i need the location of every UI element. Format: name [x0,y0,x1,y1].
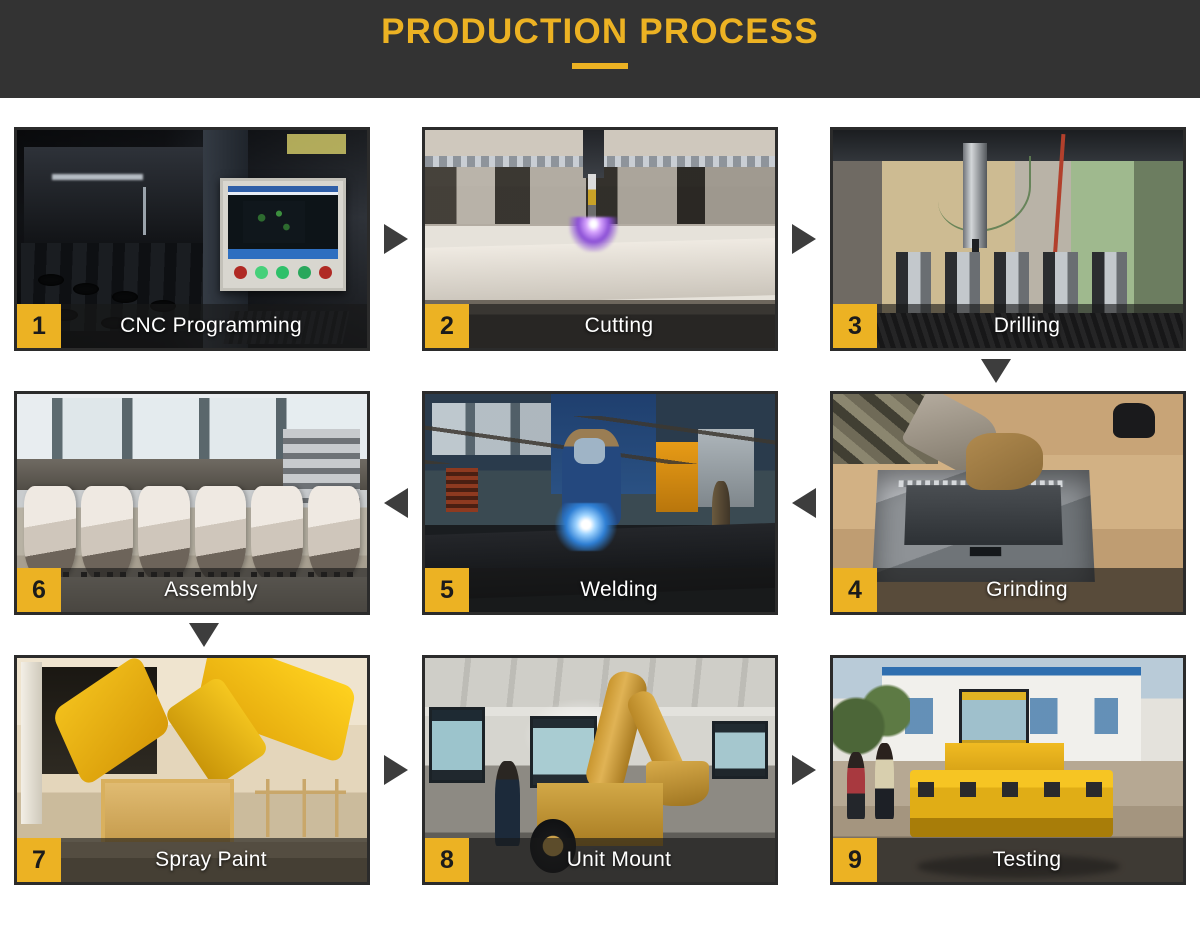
step-number-badge: 1 [17,304,61,348]
arrow-down-step3-to-step4 [981,359,1011,383]
process-card-testing[interactable]: 9 Testing [830,655,1186,885]
step-number-badge: 7 [17,838,61,882]
card-caption-bar: 9 Testing [833,838,1183,882]
step-number-badge: 6 [17,568,61,612]
process-card-unit-mount[interactable]: 8 Unit Mount [422,655,778,885]
step-number-badge: 8 [425,838,469,882]
process-grid: 1 CNC Programming 2 Cutting [0,98,1200,885]
step-label: Cutting [469,304,775,348]
process-row-2: 6 Assembly 5 Welding [14,391,1186,615]
step-label: Testing [877,838,1183,882]
card-caption-bar: 3 Drilling [833,304,1183,348]
arrow-down-step6-to-step7 [189,623,219,647]
arrow-right-step2-to-step3 [782,224,826,254]
card-caption-bar: 7 Spray Paint [17,838,367,882]
arrow-right-step8-to-step9 [782,755,826,785]
process-card-grinding[interactable]: 4 Grinding [830,391,1186,615]
step-label: Assembly [61,568,367,612]
step-label: Grinding [877,568,1183,612]
arrow-right-step7-to-step8 [374,755,418,785]
process-card-drilling[interactable]: 3 Drilling [830,127,1186,351]
card-caption-bar: 2 Cutting [425,304,775,348]
arrow-left-step5-to-step6 [374,488,418,518]
process-card-cnc-programming[interactable]: 1 CNC Programming [14,127,370,351]
process-row-3: 7 Spray Paint 8 Unit [14,655,1186,885]
step-number-badge: 4 [833,568,877,612]
step-label: Unit Mount [469,838,775,882]
card-caption-bar: 5 Welding [425,568,775,612]
page-title: PRODUCTION PROCESS [381,12,819,52]
process-card-cutting[interactable]: 2 Cutting [422,127,778,351]
connector-row1-to-row2 [14,351,1186,391]
page-header: PRODUCTION PROCESS [0,0,1200,98]
arrow-left-step4-to-step5 [782,488,826,518]
step-number-badge: 5 [425,568,469,612]
title-underline-rule [572,63,628,69]
process-card-spray-paint[interactable]: 7 Spray Paint [14,655,370,885]
card-caption-bar: 8 Unit Mount [425,838,775,882]
process-card-welding[interactable]: 5 Welding [422,391,778,615]
arrow-right-step1-to-step2 [374,224,418,254]
step-label: Drilling [877,304,1183,348]
connector-row2-to-row3 [14,615,1186,655]
card-caption-bar: 4 Grinding [833,568,1183,612]
step-number-badge: 3 [833,304,877,348]
card-caption-bar: 1 CNC Programming [17,304,367,348]
step-number-badge: 9 [833,838,877,882]
step-label: Welding [469,568,775,612]
process-card-assembly[interactable]: 6 Assembly [14,391,370,615]
card-caption-bar: 6 Assembly [17,568,367,612]
step-label: Spray Paint [61,838,367,882]
step-label: CNC Programming [61,304,367,348]
step-number-badge: 2 [425,304,469,348]
process-row-1: 1 CNC Programming 2 Cutting [14,127,1186,351]
